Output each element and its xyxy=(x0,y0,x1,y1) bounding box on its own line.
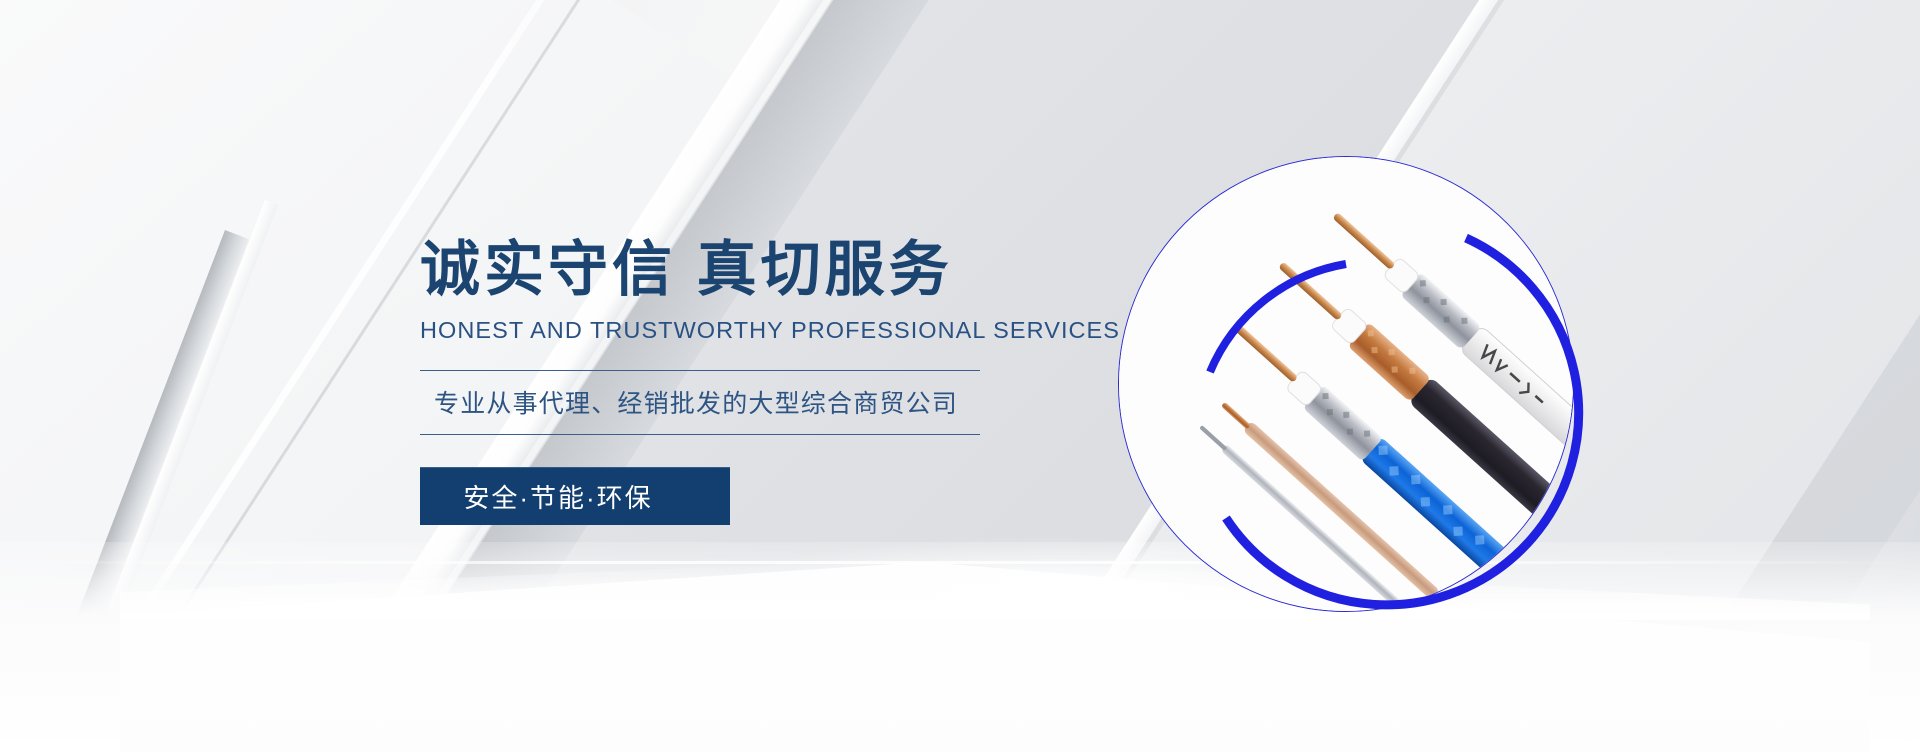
bg-baseboard xyxy=(0,561,1920,564)
product-photo xyxy=(1118,156,1574,612)
hero-banner: 诚实守信 真切服务 HONEST AND TRUSTWORTHY PROFESS… xyxy=(0,0,1920,752)
ribbon-label: 安全·节能·环保 xyxy=(463,478,686,515)
page-title: 诚实守信 真切服务 xyxy=(420,236,1040,303)
description-text: 专业从事代理、经销批发的大型综合商贸公司 xyxy=(420,384,980,420)
subtitle-english: HONEST AND TRUSTWORTHY PROFESSIONAL SERV… xyxy=(420,317,1040,344)
product-circle xyxy=(1118,156,1574,612)
coaxial-cables-illustration xyxy=(1119,157,1574,612)
hero-copy-block: 诚实守信 真切服务 HONEST AND TRUSTWORTHY PROFESS… xyxy=(420,236,1040,525)
description-rule-box: 专业从事代理、经销批发的大型综合商贸公司 xyxy=(420,370,980,435)
feature-ribbon-tag: 安全·节能·环保 xyxy=(420,467,730,525)
